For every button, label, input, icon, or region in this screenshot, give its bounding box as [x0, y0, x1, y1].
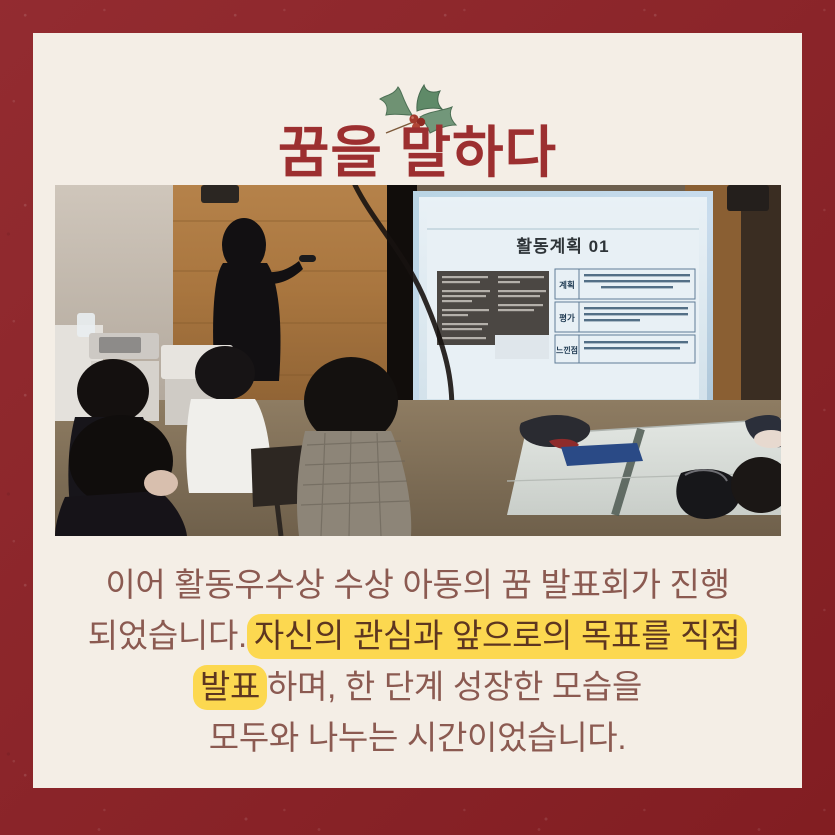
- caption-plain: 하며, 한 단계 성장한 모습을: [267, 668, 642, 705]
- svg-text:계획: 계획: [559, 280, 575, 290]
- svg-text:느낀점: 느낀점: [556, 345, 578, 355]
- event-photo: 활동계획 01: [55, 185, 781, 536]
- page-title: 꿈을 말하다: [33, 121, 802, 185]
- caption-line-1: 이어 활동우수상 수상 아동의 꿈 발표회가 진행: [57, 559, 778, 610]
- caption-plain: 모두와 나누는 시간이었습니다.: [209, 719, 626, 756]
- caption-highlight: 발표: [193, 665, 267, 710]
- svg-text:활동계획 01: 활동계획 01: [516, 236, 609, 256]
- caption-highlight: 자신의 관심과 앞으로의 목표를 직접: [247, 614, 747, 659]
- content-card: 꿈을 말하다: [33, 33, 802, 788]
- caption-plain: 되었습니다.: [88, 617, 247, 654]
- caption-text: 이어 활동우수상 수상 아동의 꿈 발표회가 진행 되었습니다.자신의 관심과 …: [57, 559, 778, 763]
- svg-text:평가: 평가: [559, 313, 575, 323]
- caption-line-4: 모두와 나누는 시간이었습니다.: [57, 712, 778, 763]
- caption-line-2: 되었습니다.자신의 관심과 앞으로의 목표를 직접: [57, 610, 778, 661]
- caption-plain: 이어 활동우수상 수상 아동의 꿈 발표회가 진행: [105, 566, 729, 603]
- caption-line-3: 발표하며, 한 단계 성장한 모습을: [57, 661, 778, 712]
